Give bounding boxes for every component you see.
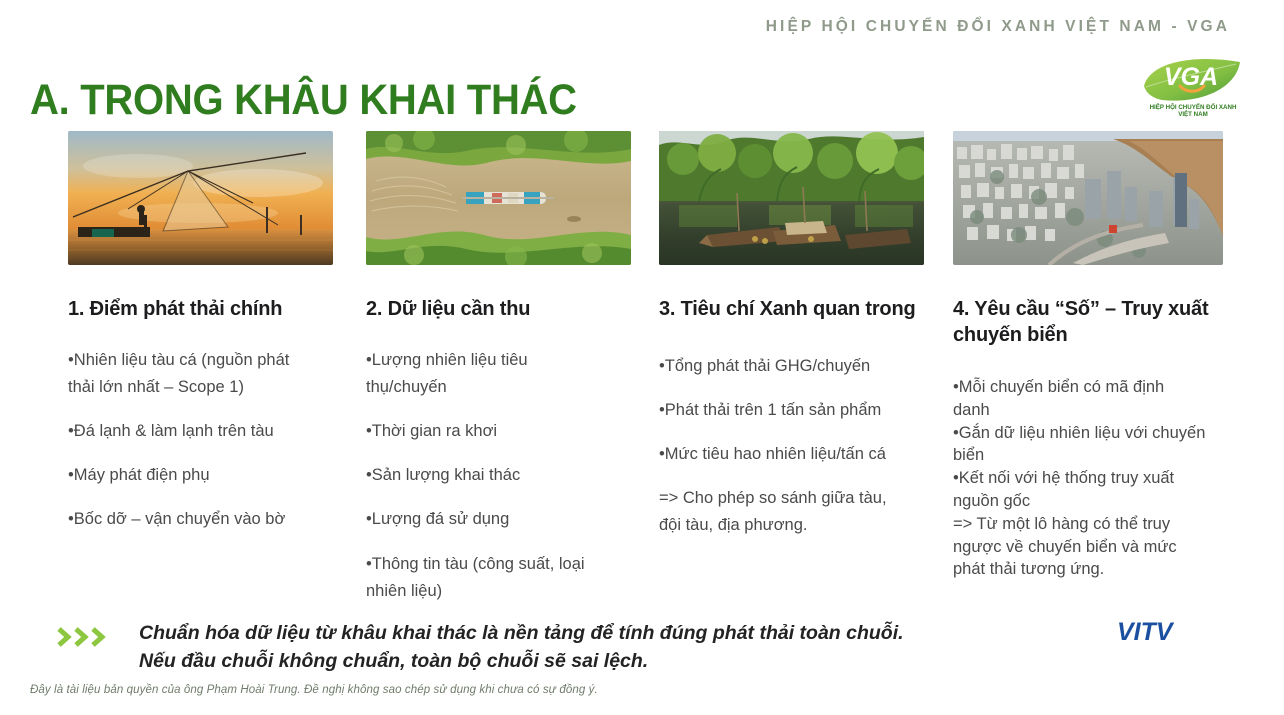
- list-item: •Bốc dỡ – vận chuyển vào bờ: [68, 506, 356, 533]
- list-item: •Máy phát điện phụ: [68, 462, 356, 489]
- column-3: 3. Tiêu chí Xanh quan trong •Tổng phát t…: [659, 131, 939, 557]
- list-item: •Kết nối với hệ thống truy xuất nguồn gố…: [953, 467, 1245, 513]
- list-item: •Sản lượng khai thác: [366, 462, 641, 489]
- slide-root: HIỆP HỘI CHUYỂN ĐỔI XANH VIỆT NAM - VGA …: [0, 0, 1284, 715]
- thumbnail-fishing-nets: [68, 131, 333, 265]
- list-item: => Từ một lô hàng có thể truy ngược về c…: [953, 513, 1245, 581]
- triple-chevron-right-icon: [55, 626, 111, 648]
- list-item: •Thông tin tàu (công suất, loại nhiên li…: [366, 551, 641, 605]
- thumbnail-aerial-city: [953, 131, 1223, 265]
- list-item: •Lượng nhiên liệu tiêu thụ/chuyến: [366, 347, 641, 401]
- column-3-bullets: •Tổng phát thải GHG/chuyến •Phát thải tr…: [659, 353, 939, 540]
- column-4: 4. Yêu cầu “Số” – Truy xuất chuyến biển …: [953, 131, 1245, 581]
- vitv-logo: VITV: [1117, 616, 1242, 654]
- list-item: •Đá lạnh & làm lạnh trên tàu: [68, 418, 356, 445]
- list-item: •Lượng đá sử dụng: [366, 506, 641, 533]
- list-item: •Thời gian ra khơi: [366, 418, 641, 445]
- column-1-heading: 1. Điểm phát thải chính: [68, 297, 356, 323]
- list-item: •Nhiên liệu tàu cá (nguồn phát thải lớn …: [68, 347, 356, 401]
- column-3-heading: 3. Tiêu chí Xanh quan trong: [659, 297, 939, 323]
- vga-mark-text: VGA: [1164, 63, 1218, 91]
- column-4-bullets: •Mỗi chuyến biển có mã định danh •Gắn dữ…: [953, 376, 1245, 581]
- conclusion-block: Chuẩn hóa dữ liệu từ khâu khai thác là n…: [55, 620, 1105, 675]
- column-2-heading: 2. Dữ liệu cần thu: [366, 297, 641, 323]
- vitv-mark-text: VITV: [1117, 618, 1175, 646]
- svg-text:HIỆP HỘI CHUYỂN ĐỔI XANH: HIỆP HỘI CHUYỂN ĐỔI XANH: [1150, 103, 1237, 111]
- thumbnail-aerial-boat: [366, 131, 631, 265]
- list-item: •Phát thải trên 1 tấn sản phẩm: [659, 397, 939, 424]
- thumbnail-wooden-boats: [659, 131, 924, 265]
- column-2: 2. Dữ liệu cần thu •Lượng nhiên liệu tiê…: [366, 131, 641, 622]
- svg-text:VIỆT NAM: VIỆT NAM: [1178, 110, 1208, 118]
- page-title: A. TRONG KHÂU KHAI THÁC: [30, 78, 577, 123]
- list-item: •Gắn dữ liệu nhiên liệu với chuyến biển: [953, 422, 1245, 468]
- conclusion-text: Chuẩn hóa dữ liệu từ khâu khai thác là n…: [139, 620, 904, 675]
- list-item: •Mỗi chuyến biển có mã định danh: [953, 376, 1245, 422]
- content-columns: 1. Điểm phát thải chính •Nhiên liệu tàu …: [0, 131, 1284, 601]
- column-1-bullets: •Nhiên liệu tàu cá (nguồn phát thải lớn …: [68, 347, 356, 534]
- vga-logo: VGA HIỆP HỘI CHUYỂN ĐỔI XANH VIỆT NAM: [1136, 52, 1252, 118]
- list-item: •Tổng phát thải GHG/chuyến: [659, 353, 939, 380]
- list-item: •Mức tiêu hao nhiên liệu/tấn cá: [659, 441, 939, 468]
- column-4-heading: 4. Yêu cầu “Số” – Truy xuất chuyến biển: [953, 297, 1245, 348]
- organization-header: HIỆP HỘI CHUYỂN ĐỔI XANH VIỆT NAM - VGA: [0, 18, 1230, 36]
- column-1: 1. Điểm phát thải chính •Nhiên liệu tàu …: [68, 131, 356, 551]
- column-2-bullets: •Lượng nhiên liệu tiêu thụ/chuyến •Thời …: [366, 347, 641, 606]
- footer-copyright: Đây là tài liệu bản quyền của ông Phạm H…: [30, 684, 598, 696]
- list-item: => Cho phép so sánh giữa tàu, đội tàu, đ…: [659, 485, 939, 539]
